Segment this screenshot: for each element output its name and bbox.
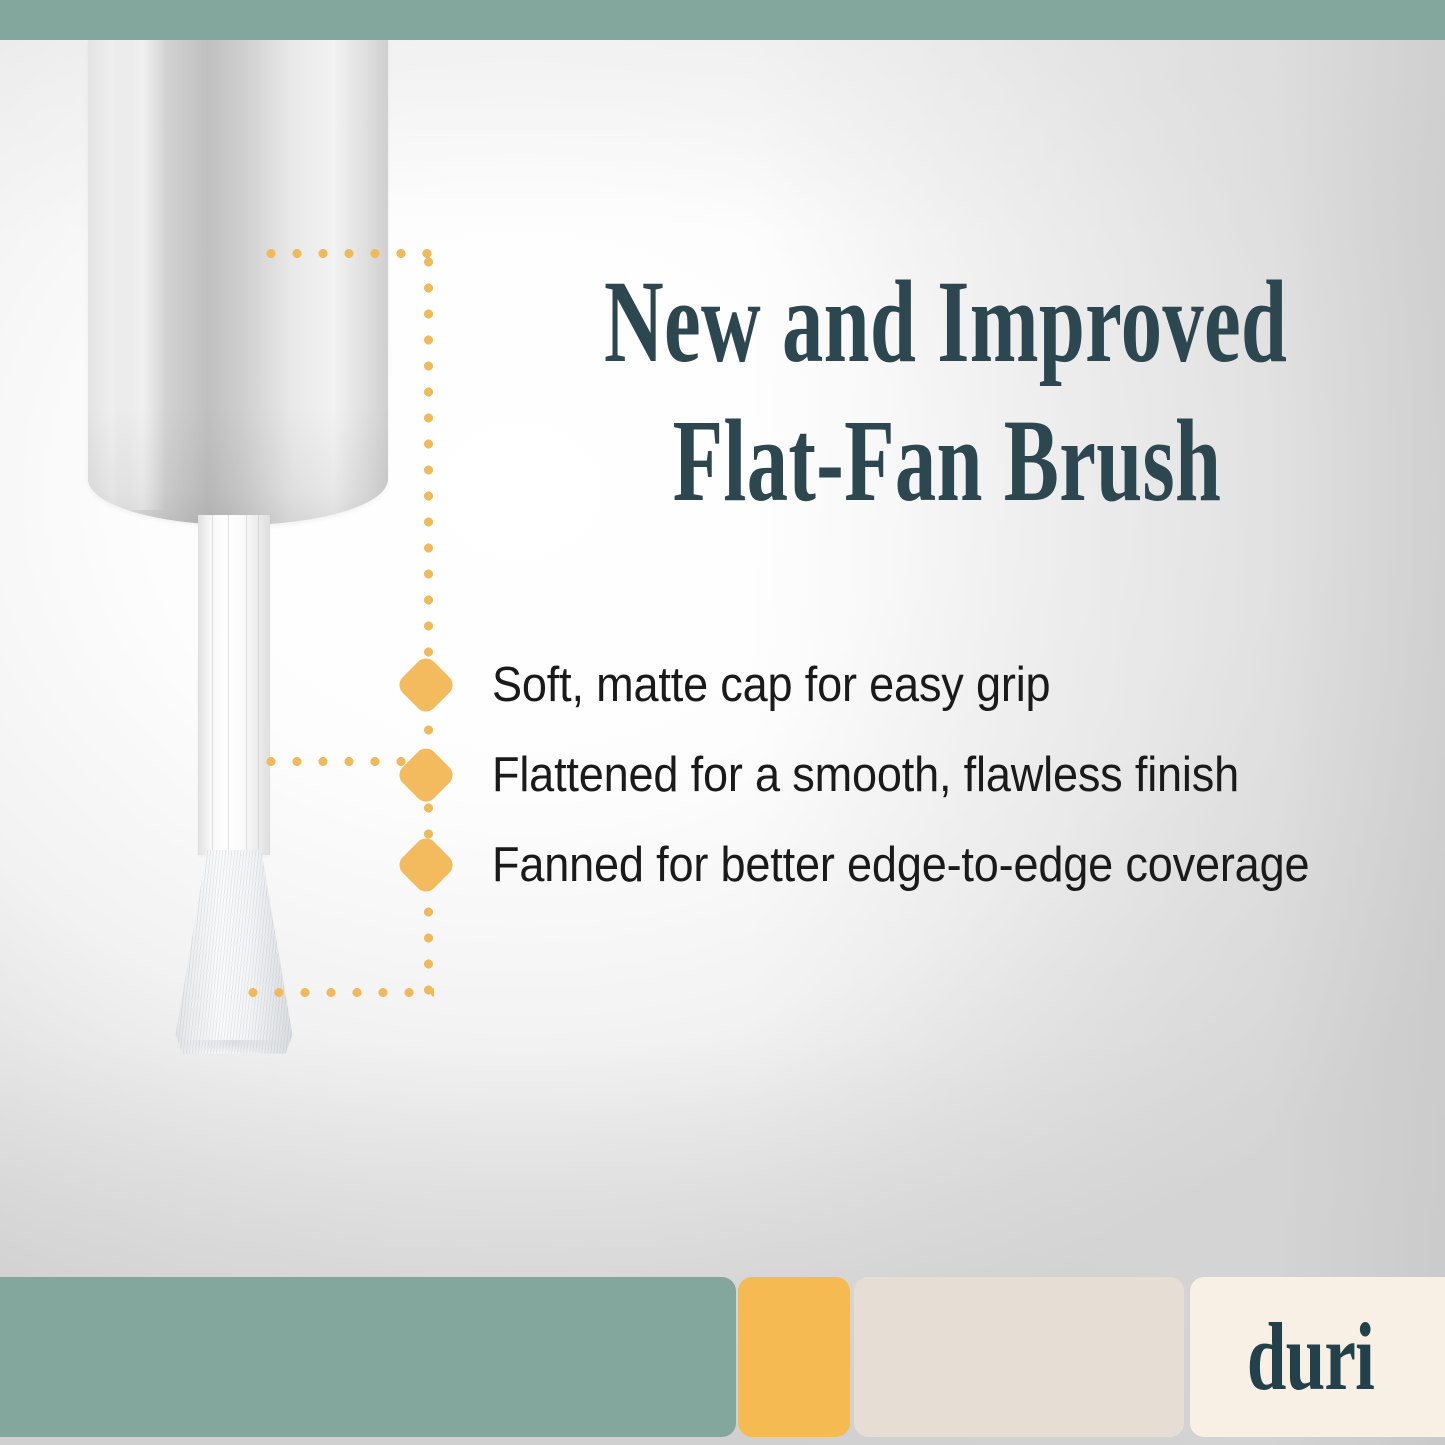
color-swatch-beige	[854, 1277, 1184, 1437]
diamond-bullet-icon	[395, 834, 457, 896]
brush-bristles	[166, 850, 302, 1060]
bristle-strands	[166, 850, 302, 1060]
cap-bottom-shade	[88, 405, 388, 525]
color-swatch-gold	[738, 1277, 850, 1437]
product-image	[0, 30, 430, 1110]
bottle-cap	[88, 40, 388, 525]
color-swatch-sage	[0, 1277, 736, 1437]
footer-color-bar: duri	[0, 1277, 1445, 1437]
headline-line-1: New and Improved	[604, 252, 1164, 391]
feature-label: Fanned for better edge-to-edge coverage	[492, 841, 1309, 890]
headline-line-2: Flat-Fan Brush	[604, 391, 1164, 530]
diamond-bullet-icon	[395, 654, 457, 716]
leader-line-cap-horizontal	[258, 249, 434, 258]
feature-label: Soft, matte cap for easy grip	[492, 661, 1050, 710]
feature-list: Soft, matte cap for easy grip Flattened …	[398, 640, 1408, 910]
leader-line-bristles-horizontal	[240, 988, 434, 997]
infographic-canvas: New and Improved Flat-Fan Brush Soft, ma…	[0, 0, 1445, 1445]
list-item: Soft, matte cap for easy grip	[398, 640, 1408, 730]
brand-logo-block: duri	[1190, 1277, 1445, 1437]
bristle-tip-shadow	[166, 1040, 302, 1066]
brush-stem	[198, 515, 270, 855]
page-title: New and Improved Flat-Fan Brush	[604, 252, 1164, 530]
brand-logo-text: duri	[1247, 1309, 1405, 1405]
list-item: Fanned for better edge-to-edge coverage	[398, 820, 1408, 910]
list-item: Flattened for a smooth, flawless finish	[398, 730, 1408, 820]
diamond-bullet-icon	[395, 744, 457, 806]
feature-label: Flattened for a smooth, flawless finish	[492, 751, 1239, 800]
